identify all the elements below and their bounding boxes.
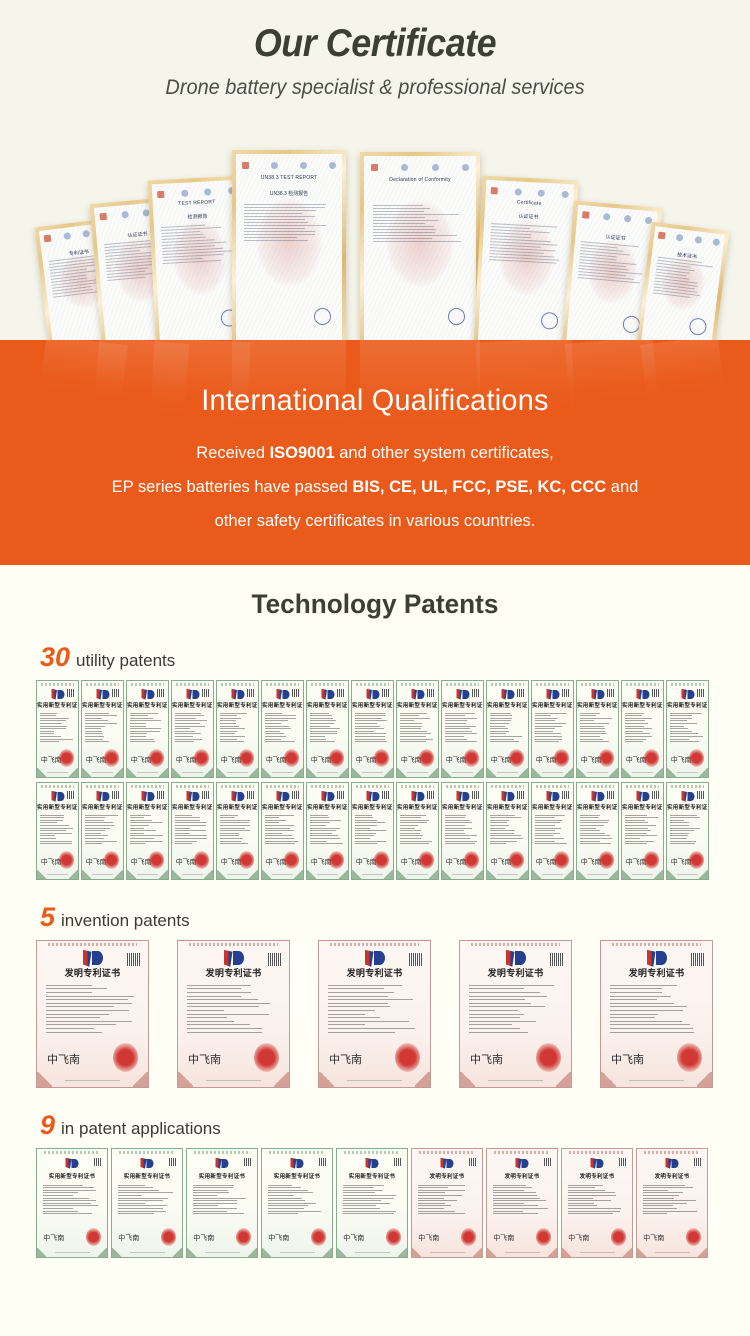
official-seal-icon xyxy=(611,1228,626,1246)
invention-patent-card[interactable]: 发明专利证书中飞南 xyxy=(561,1148,633,1258)
qr-code-icon xyxy=(652,791,660,799)
banner-line-1-suffix: and other system certificates, xyxy=(335,443,554,462)
qr-code-icon xyxy=(427,689,435,697)
qr-code-icon xyxy=(469,1158,477,1166)
patent-office-logo-icon xyxy=(441,1158,454,1169)
certificate-fan: 专利证书认证证书TEST REPORT检测报告UN38.3 TEST REPOR… xyxy=(0,140,750,350)
official-seal-icon xyxy=(509,749,524,767)
patent-card-body xyxy=(493,1185,552,1215)
card-corner-ornament xyxy=(532,768,541,777)
invention-patent-card[interactable]: 发明专利证书中飞南 xyxy=(600,940,713,1088)
card-corner-ornament xyxy=(622,768,631,777)
utility-patent-card[interactable]: 实用新型专利证书中飞南 xyxy=(621,782,664,880)
patent-card-signature: 中飞南 xyxy=(188,1051,221,1067)
utility-patent-card[interactable]: 实用新型专利证书中飞南 xyxy=(171,680,214,778)
utility-patent-card[interactable]: 实用新型专利证书中飞南 xyxy=(441,680,484,778)
certificate-seal-icon xyxy=(541,312,559,330)
certificate-body-lines xyxy=(489,223,565,264)
card-top-ornament xyxy=(311,785,344,788)
patent-office-logo-icon xyxy=(591,689,604,700)
patent-card-body xyxy=(193,1185,252,1215)
card-footer-line xyxy=(182,772,203,773)
qr-code-icon xyxy=(319,1158,327,1166)
utility-patent-card[interactable]: 实用新型专利证书中飞南 xyxy=(531,782,574,880)
utility-patent-card[interactable]: 实用新型专利证书中飞南 xyxy=(186,1148,258,1258)
certificate-badges xyxy=(157,187,235,198)
qr-code-icon xyxy=(292,791,300,799)
card-footer-line xyxy=(430,1252,465,1253)
official-seal-icon xyxy=(329,851,344,869)
patent-card-signature: 中飞南 xyxy=(43,1233,64,1243)
official-seal-icon xyxy=(689,851,704,869)
page-title: Our Certificate xyxy=(30,0,720,66)
patent-count-number: 9 xyxy=(40,1110,55,1141)
patent-card-title: 实用新型专利证书 xyxy=(262,803,303,811)
patent-card-title: 实用新型专利证书 xyxy=(337,1172,407,1180)
card-corner-ornament xyxy=(556,1072,571,1087)
invention-patent-card[interactable]: 发明专利证书中飞南 xyxy=(177,940,290,1088)
patent-card-body xyxy=(46,985,139,1033)
card-top-ornament xyxy=(44,1151,100,1154)
official-seal-icon xyxy=(599,851,614,869)
card-top-ornament xyxy=(48,943,137,946)
hero-certificate: 技术证书 xyxy=(637,222,730,355)
invention-patent-card[interactable]: 发明专利证书中飞南 xyxy=(636,1148,708,1258)
card-corner-ornament xyxy=(187,1248,196,1257)
invention-patent-card[interactable]: 发明专利证书中飞南 xyxy=(411,1148,483,1258)
card-corner-ornament xyxy=(577,768,586,777)
patent-card-body xyxy=(445,713,479,743)
utility-patent-card[interactable]: 实用新型专利证书中飞南 xyxy=(621,680,664,778)
card-corner-ornament xyxy=(274,1072,289,1087)
card-corner-ornament xyxy=(384,768,393,777)
certificate-page: Our Certificate Drone battery specialist… xyxy=(0,0,750,1336)
patent-card-signature: 中飞南 xyxy=(568,1233,589,1243)
card-footer-line xyxy=(137,772,158,773)
card-corner-ornament xyxy=(698,1248,707,1257)
qr-code-icon xyxy=(562,791,570,799)
certificate-badges xyxy=(658,231,720,245)
card-top-ornament xyxy=(671,785,704,788)
card-corner-ornament xyxy=(473,1248,482,1257)
card-footer-line xyxy=(362,772,383,773)
utility-patent-card[interactable]: 实用新型专利证书中飞南 xyxy=(351,680,394,778)
official-seal-icon xyxy=(644,851,659,869)
patent-card-signature: 中飞南 xyxy=(329,1051,362,1067)
utility-patent-card[interactable]: 实用新型专利证书中飞南 xyxy=(81,782,124,880)
card-footer-line xyxy=(505,1252,540,1253)
qr-code-icon xyxy=(112,791,120,799)
utility-patent-card[interactable]: 实用新型专利证书中飞南 xyxy=(171,782,214,880)
qr-code-icon xyxy=(427,791,435,799)
patent-count-label: in patent applications xyxy=(61,1119,221,1139)
patent-card-body xyxy=(85,713,119,743)
card-corner-ornament xyxy=(69,870,78,879)
card-corner-ornament xyxy=(601,1072,616,1087)
utility-patent-card[interactable]: 实用新型专利证书中飞南 xyxy=(126,782,169,880)
utility-patent-card[interactable]: 实用新型专利证书中飞南 xyxy=(36,1148,108,1258)
patent-count-label: invention patents xyxy=(61,911,190,931)
card-corner-ornament xyxy=(564,768,573,777)
card-top-ornament xyxy=(581,683,614,686)
patent-card-title: 实用新型专利证书 xyxy=(262,1172,332,1180)
official-seal-icon xyxy=(149,749,164,767)
utility-patent-card[interactable]: 实用新型专利证书中飞南 xyxy=(81,680,124,778)
patent-count-invention: 5 invention patents xyxy=(0,902,750,933)
patent-card-title: 发明专利证书 xyxy=(460,966,571,979)
patent-card-body xyxy=(220,815,254,845)
card-corner-ornament xyxy=(82,870,91,879)
card-corner-ornament xyxy=(37,1072,52,1087)
card-corner-ornament xyxy=(249,870,258,879)
patent-card-body xyxy=(625,713,659,743)
card-top-ornament xyxy=(569,1151,625,1154)
patent-card-title: 实用新型专利证书 xyxy=(262,701,303,709)
utility-patent-card[interactable]: 实用新型专利证书中飞南 xyxy=(666,782,709,880)
certificate-body-lines xyxy=(244,204,333,241)
patent-office-logo-icon xyxy=(591,791,604,802)
utility-patent-card[interactable]: 实用新型专利证书中飞南 xyxy=(441,782,484,880)
patent-card-body xyxy=(490,815,524,845)
card-top-ornament xyxy=(119,1151,175,1154)
patent-card-title: 实用新型专利证书 xyxy=(82,803,123,811)
patent-card-signature: 中飞南 xyxy=(418,1233,439,1243)
qr-code-icon xyxy=(169,1158,177,1166)
card-corner-ornament xyxy=(307,870,316,879)
patent-card-title: 实用新型专利证书 xyxy=(532,803,573,811)
card-corner-ornament xyxy=(609,768,618,777)
patent-card-title: 实用新型专利证书 xyxy=(532,701,573,709)
patent-card-body xyxy=(643,1185,702,1215)
card-corner-ornament xyxy=(562,1248,571,1257)
utility-patent-card[interactable]: 实用新型专利证书中飞南 xyxy=(216,782,259,880)
patent-card-title: 实用新型专利证书 xyxy=(307,803,348,811)
certificate-title-cn: UN38.3 检测报告 xyxy=(236,190,342,197)
patent-office-logo-icon xyxy=(51,791,64,802)
patent-card-title: 实用新型专利证书 xyxy=(172,803,213,811)
patent-card-title: 发明专利证书 xyxy=(178,966,289,979)
patent-card-body xyxy=(43,1185,102,1215)
patent-office-logo-icon xyxy=(506,950,526,967)
card-top-ornament xyxy=(581,785,614,788)
patent-office-logo-icon xyxy=(516,1158,529,1169)
patent-office-logo-icon xyxy=(681,791,694,802)
patent-card-title: 实用新型专利证书 xyxy=(217,701,258,709)
card-footer-line xyxy=(497,772,518,773)
patent-card-body xyxy=(268,1185,327,1215)
card-footer-line xyxy=(629,1080,685,1081)
card-corner-ornament xyxy=(339,870,348,879)
card-footer-line xyxy=(407,874,428,875)
card-top-ornament xyxy=(269,1151,325,1154)
patent-card-title: 实用新型专利证书 xyxy=(37,803,78,811)
card-corner-ornament xyxy=(172,768,181,777)
card-top-ornament xyxy=(194,1151,250,1154)
qr-code-icon xyxy=(694,1158,702,1166)
utility-patent-card[interactable]: 实用新型专利证书中飞南 xyxy=(666,680,709,778)
card-corner-ornament xyxy=(262,870,271,879)
qr-code-icon xyxy=(247,689,255,697)
card-corner-ornament xyxy=(262,768,271,777)
page-subtitle: Drone battery specialist & professional … xyxy=(19,76,732,100)
patent-card-body xyxy=(670,815,704,845)
utility-patent-card[interactable]: 实用新型专利证书中飞南 xyxy=(306,680,349,778)
card-corner-ornament xyxy=(532,870,541,879)
patent-card-title: 实用新型专利证书 xyxy=(112,1172,182,1180)
card-corner-ornament xyxy=(127,768,136,777)
card-corner-ornament xyxy=(415,1072,430,1087)
card-top-ornament xyxy=(446,683,479,686)
card-top-ornament xyxy=(131,683,164,686)
card-corner-ornament xyxy=(112,1248,121,1257)
card-top-ornament xyxy=(419,1151,475,1154)
card-corner-ornament xyxy=(98,1248,107,1257)
patent-card-signature: 中飞南 xyxy=(493,1233,514,1243)
certificate-seal-icon xyxy=(688,317,707,336)
patent-card-title: 实用新型专利证书 xyxy=(307,701,348,709)
utility-patent-card[interactable]: 实用新型专利证书中飞南 xyxy=(306,782,349,880)
patent-card-title: 实用新型专利证书 xyxy=(622,701,663,709)
card-corner-ornament xyxy=(398,1248,407,1257)
official-seal-icon xyxy=(419,749,434,767)
utility-patent-card[interactable]: 实用新型专利证书中飞南 xyxy=(336,1148,408,1258)
card-corner-ornament xyxy=(352,768,361,777)
card-corner-ornament xyxy=(487,768,496,777)
patent-office-logo-icon xyxy=(666,1158,679,1169)
patent-count-number: 30 xyxy=(40,642,70,673)
certificate-badges xyxy=(371,164,470,171)
patent-card-signature: 中飞南 xyxy=(343,1233,364,1243)
patent-card-title: 实用新型专利证书 xyxy=(442,701,483,709)
patent-card-body xyxy=(568,1185,627,1215)
card-footer-line xyxy=(182,874,203,875)
patent-card-body xyxy=(265,815,299,845)
official-seal-icon xyxy=(374,749,389,767)
card-footer-line xyxy=(130,1252,165,1253)
official-seal-icon xyxy=(329,749,344,767)
patent-office-logo-icon xyxy=(216,1158,229,1169)
official-seal-icon xyxy=(239,749,254,767)
patent-card-body xyxy=(328,985,421,1033)
card-top-ornament xyxy=(131,785,164,788)
invention-patent-card[interactable]: 发明专利证书中飞南 xyxy=(36,940,149,1088)
utility-patent-card[interactable]: 实用新型专利证书中飞南 xyxy=(261,782,304,880)
utility-patent-card[interactable]: 实用新型专利证书中飞南 xyxy=(576,782,619,880)
utility-patent-card[interactable]: 实用新型专利证书中飞南 xyxy=(261,1148,333,1258)
card-footer-line xyxy=(497,874,518,875)
utility-patent-card[interactable]: 实用新型专利证书中飞南 xyxy=(36,680,79,778)
card-top-ornament xyxy=(189,943,278,946)
official-seal-icon xyxy=(386,1228,401,1246)
card-corner-ornament xyxy=(460,1072,475,1087)
card-top-ornament xyxy=(536,785,569,788)
utility-patent-card[interactable]: 实用新型专利证书中飞南 xyxy=(396,680,439,778)
qr-code-icon xyxy=(112,689,120,697)
patent-office-logo-icon xyxy=(276,689,289,700)
official-seal-icon xyxy=(644,749,659,767)
card-footer-line xyxy=(542,874,563,875)
card-corner-ornament xyxy=(37,1248,46,1257)
banner-line-2-prefix: EP series batteries have passed xyxy=(112,477,353,496)
banner-line-2-suffix: and xyxy=(606,477,638,496)
patent-card-title: 实用新型专利证书 xyxy=(82,701,123,709)
card-top-ornament xyxy=(471,943,560,946)
patent-office-logo-icon xyxy=(546,791,559,802)
patent-office-logo-icon xyxy=(321,791,334,802)
card-top-ornament xyxy=(356,785,389,788)
utility-patent-grid-row-1: 实用新型专利证书中飞南实用新型专利证书中飞南实用新型专利证书中飞南实用新型专利证… xyxy=(0,680,750,778)
card-corner-ornament xyxy=(548,1248,557,1257)
patent-office-logo-icon xyxy=(83,950,103,967)
patent-card-signature: 中飞南 xyxy=(643,1233,664,1243)
card-corner-ornament xyxy=(622,870,631,879)
card-corner-ornament xyxy=(69,768,78,777)
patent-card-signature: 中飞南 xyxy=(611,1051,644,1067)
patent-card-body xyxy=(625,815,659,845)
patent-card-body xyxy=(490,713,524,743)
qr-code-icon xyxy=(157,791,165,799)
patent-card-title: 实用新型专利证书 xyxy=(397,701,438,709)
official-seal-icon xyxy=(677,1043,702,1072)
card-corner-ornament xyxy=(114,870,123,879)
patent-card-title: 实用新型专利证书 xyxy=(217,803,258,811)
card-top-ornament xyxy=(644,1151,700,1154)
patent-card-signature: 中飞南 xyxy=(118,1233,139,1243)
qr-code-icon xyxy=(517,791,525,799)
utility-patent-card[interactable]: 实用新型专利证书中飞南 xyxy=(396,782,439,880)
utility-patent-card[interactable]: 实用新型专利证书中飞南 xyxy=(261,680,304,778)
patent-card-body xyxy=(118,1185,177,1215)
card-corner-ornament xyxy=(697,1072,712,1087)
patent-card-title: 实用新型专利证书 xyxy=(37,701,78,709)
patent-office-logo-icon xyxy=(291,1158,304,1169)
card-corner-ornament xyxy=(429,870,438,879)
qr-code-icon xyxy=(472,689,480,697)
patent-office-logo-icon xyxy=(51,689,64,700)
card-corner-ornament xyxy=(248,1248,257,1257)
patent-card-title: 实用新型专利证书 xyxy=(487,803,528,811)
card-corner-ornament xyxy=(442,870,451,879)
card-footer-line xyxy=(272,772,293,773)
utility-patent-card[interactable]: 实用新型专利证书中飞南 xyxy=(531,680,574,778)
utility-patent-card[interactable]: 实用新型专利证书中飞南 xyxy=(111,1148,183,1258)
utility-patent-card[interactable]: 实用新型专利证书中飞南 xyxy=(351,782,394,880)
patent-card-title: 实用新型专利证书 xyxy=(352,701,393,709)
card-corner-ornament xyxy=(339,768,348,777)
card-corner-ornament xyxy=(337,1248,346,1257)
patent-card-title: 实用新型专利证书 xyxy=(127,803,168,811)
card-top-ornament xyxy=(311,683,344,686)
card-footer-line xyxy=(587,772,608,773)
official-seal-icon xyxy=(536,1228,551,1246)
invention-patent-card[interactable]: 发明专利证书中飞南 xyxy=(486,1148,558,1258)
card-top-ornament xyxy=(626,683,659,686)
patent-card-body xyxy=(187,985,280,1033)
card-corner-ornament xyxy=(127,870,136,879)
card-footer-line xyxy=(205,1252,240,1253)
banner-line-3: other safety certificates in various cou… xyxy=(11,504,739,538)
banner-line-1: Received ISO9001 and other system certif… xyxy=(11,436,739,470)
qr-code-icon xyxy=(337,791,345,799)
qr-code-icon xyxy=(127,953,140,966)
card-corner-ornament xyxy=(519,870,528,879)
official-seal-icon xyxy=(686,1228,701,1246)
utility-patent-card[interactable]: 实用新型专利证书中飞南 xyxy=(576,680,619,778)
card-footer-line xyxy=(488,1080,544,1081)
patent-card-signature: 中飞南 xyxy=(193,1233,214,1243)
utility-patent-card[interactable]: 实用新型专利证书中飞南 xyxy=(36,782,79,880)
qr-code-icon xyxy=(67,689,75,697)
official-seal-icon xyxy=(113,1043,138,1072)
patent-card-body xyxy=(580,713,614,743)
qr-code-icon xyxy=(247,791,255,799)
patent-card-body xyxy=(310,713,344,743)
patent-card-title: 实用新型专利证书 xyxy=(442,803,483,811)
hero-certificate: Declaration of Conformity xyxy=(360,152,480,350)
patent-card-body xyxy=(40,815,74,845)
card-top-ornament xyxy=(221,683,254,686)
card-corner-ornament xyxy=(699,768,708,777)
patent-office-logo-icon xyxy=(647,950,667,967)
utility-patent-card[interactable]: 实用新型专利证书中飞南 xyxy=(216,680,259,778)
official-seal-icon xyxy=(59,749,74,767)
card-corner-ornament xyxy=(352,870,361,879)
official-seal-icon xyxy=(104,851,119,869)
card-footer-line xyxy=(677,874,698,875)
invention-patent-card[interactable]: 发明专利证书中飞南 xyxy=(459,940,572,1088)
official-seal-icon xyxy=(554,851,569,869)
qr-code-icon xyxy=(202,791,210,799)
qr-code-icon xyxy=(607,689,615,697)
official-seal-icon xyxy=(161,1228,176,1246)
qr-code-icon xyxy=(382,689,390,697)
card-footer-line xyxy=(362,874,383,875)
utility-patent-card[interactable]: 实用新型专利证书中飞南 xyxy=(486,680,529,778)
official-seal-icon xyxy=(374,851,389,869)
card-top-ornament xyxy=(176,785,209,788)
card-top-ornament xyxy=(176,683,209,686)
card-top-ornament xyxy=(491,683,524,686)
card-footer-line xyxy=(317,874,338,875)
patent-office-logo-icon xyxy=(186,689,199,700)
certificate-title-en: Declaration of Conformity xyxy=(364,177,476,183)
utility-patent-card[interactable]: 实用新型专利证书中飞南 xyxy=(126,680,169,778)
card-corner-ornament xyxy=(37,768,46,777)
invention-patent-card[interactable]: 发明专利证书中飞南 xyxy=(318,940,431,1088)
utility-patent-card[interactable]: 实用新型专利证书中飞南 xyxy=(486,782,529,880)
card-corner-ornament xyxy=(294,870,303,879)
card-corner-ornament xyxy=(319,1072,334,1087)
card-corner-ornament xyxy=(178,1072,193,1087)
card-footer-line xyxy=(407,772,428,773)
card-top-ornament xyxy=(612,943,701,946)
patent-card-body xyxy=(310,815,344,845)
patent-office-logo-icon xyxy=(366,689,379,700)
card-corner-ornament xyxy=(294,768,303,777)
patent-card-title: 实用新型专利证书 xyxy=(397,803,438,811)
patent-office-logo-icon xyxy=(141,689,154,700)
card-corner-ornament xyxy=(249,768,258,777)
utility-patent-grid-row-2: 实用新型专利证书中飞南实用新型专利证书中飞南实用新型专利证书中飞南实用新型专利证… xyxy=(0,782,750,880)
card-footer-line xyxy=(632,874,653,875)
patent-office-logo-icon xyxy=(366,1158,379,1169)
card-corner-ornament xyxy=(442,768,451,777)
patent-office-logo-icon xyxy=(636,689,649,700)
card-footer-line xyxy=(227,772,248,773)
official-seal-icon xyxy=(194,851,209,869)
card-corner-ornament xyxy=(397,870,406,879)
patent-card-body xyxy=(535,713,569,743)
